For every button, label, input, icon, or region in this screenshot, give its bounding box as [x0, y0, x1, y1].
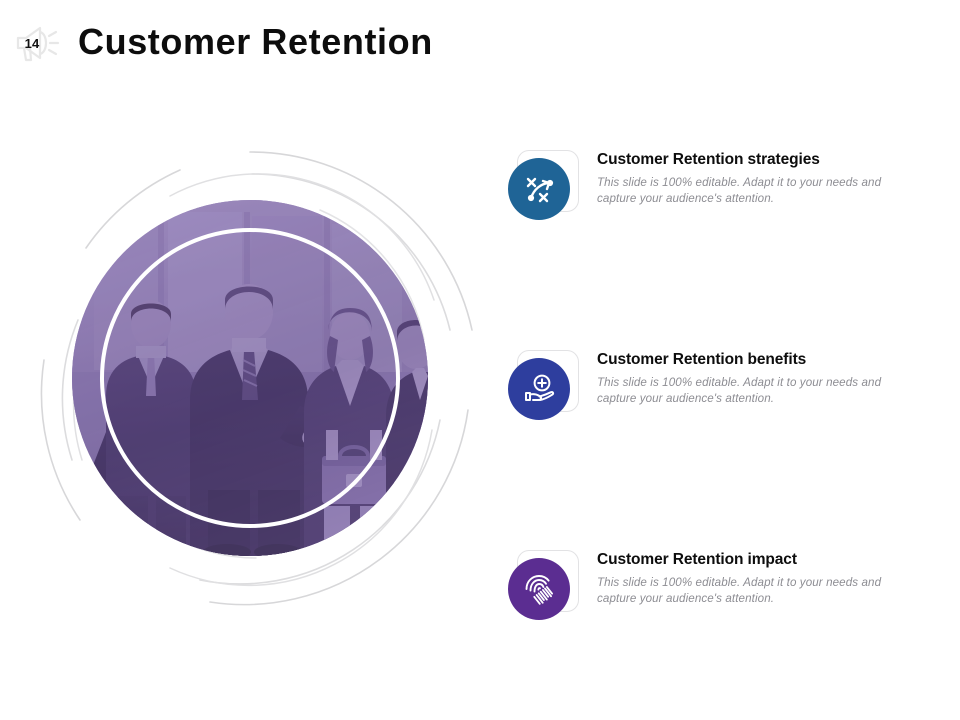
feature-body: This slide is 100% editable. Adapt it to…	[597, 575, 907, 606]
visual-area	[20, 130, 490, 630]
slide-number-text: 14	[6, 14, 64, 72]
strategy-icon[interactable]	[508, 158, 570, 220]
feature-title: Customer Retention impact	[597, 550, 945, 570]
feature-text-impact: Customer Retention impact This slide is …	[597, 550, 945, 606]
feature-body: This slide is 100% editable. Adapt it to…	[597, 375, 907, 406]
feature-body: This slide is 100% editable. Adapt it to…	[597, 175, 907, 206]
slide-header: 14 Customer Retention	[0, 0, 960, 88]
feature-text-benefits: Customer Retention benefits This slide i…	[597, 350, 945, 406]
feature-title: Customer Retention strategies	[597, 150, 945, 170]
feature-item-benefits[interactable]: Customer Retention benefits This slide i…	[505, 340, 945, 430]
team-photo-image	[72, 200, 428, 556]
team-photo-circle	[72, 200, 428, 556]
feature-item-impact[interactable]: Customer Retention impact This slide is …	[505, 540, 945, 630]
feature-list: Customer Retention strategies This slide…	[505, 130, 945, 640]
feature-item-strategies[interactable]: Customer Retention strategies This slide…	[505, 140, 945, 230]
feature-text-strategies: Customer Retention strategies This slide…	[597, 150, 945, 206]
fingerprint-scan-icon[interactable]	[508, 558, 570, 620]
feature-title: Customer Retention benefits	[597, 350, 945, 370]
slide-number-badge: 14	[6, 14, 64, 72]
hand-plus-benefits-icon[interactable]	[508, 358, 570, 420]
slide-canvas: 14 Customer Retention	[0, 0, 960, 720]
page-title: Customer Retention	[78, 18, 433, 66]
